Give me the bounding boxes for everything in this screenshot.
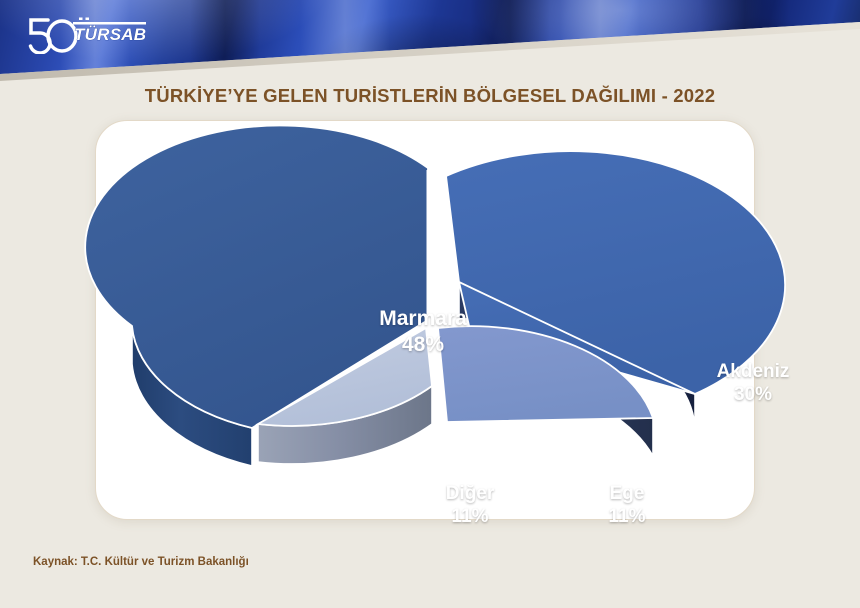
slide-canvas: TÜRSAB TÜRKİYE’YE GELEN TURİSTLERİN BÖLG… bbox=[0, 0, 860, 608]
svg-text:TÜRSAB: TÜRSAB bbox=[74, 25, 146, 44]
tursab-50th-anniversary-logo: TÜRSAB bbox=[20, 12, 150, 54]
page-title: TÜRKİYE’YE GELEN TURİSTLERİN BÖLGESEL DA… bbox=[0, 85, 860, 107]
source-note: Kaynak: T.C. Kültür ve Turizm Bakanlığı bbox=[33, 556, 249, 568]
pie-chart: Marmara 48% Akdeniz 30% Ege 11% Diğer 11… bbox=[110, 132, 750, 492]
